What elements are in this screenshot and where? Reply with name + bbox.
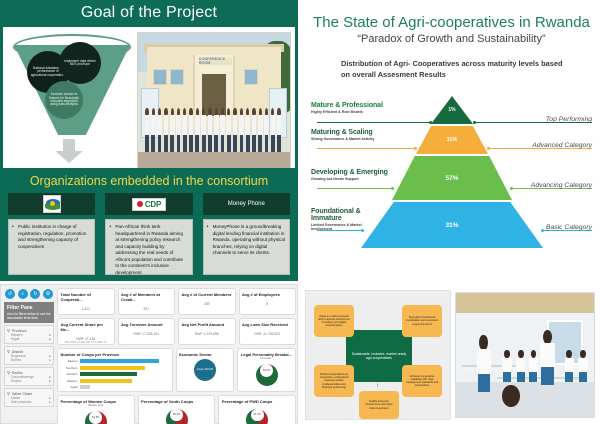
- slide-strategy: Sustainable, inclusive, market-ready agr…: [303, 284, 600, 424]
- funnel-diagram: National database on performance of agri…: [7, 29, 135, 177]
- kpi-card[interactable]: Avg Net Profit Amount RWF 1,329,898: [178, 318, 236, 345]
- rwanda-emblem-icon: [43, 195, 61, 213]
- consortium-description-row: Public institution in charge of registra…: [8, 219, 290, 275]
- women-coops-donut: 52.3%: [85, 411, 107, 424]
- arrow-icon-3: ↗: [356, 375, 361, 382]
- pyramid-category-3: Advancing Category: [531, 182, 592, 189]
- filter-item[interactable]: Musha▸: [7, 379, 51, 383]
- filter-pane-title: Filter Pane: [7, 305, 51, 311]
- photo-person-foreground: [497, 385, 525, 417]
- kpi-value: 289: [182, 302, 233, 306]
- bar-label: Western: [61, 379, 78, 383]
- search-icon: ⚲: [7, 328, 10, 333]
- filter-group-district[interactable]: ⚲District Bugesera▸ Burera▸: [4, 346, 54, 365]
- photo-person-speaker: [539, 330, 557, 385]
- pwd-coops-card[interactable]: Percentage of PWD Coops 41.2%: [218, 395, 296, 424]
- filter-group-province[interactable]: ⚲Province Eastern▸ Kigali▸: [4, 325, 54, 344]
- pwd-coops-donut: 41.2%: [246, 409, 268, 424]
- filter-item[interactable]: Burera▸: [7, 358, 51, 362]
- kpi-value: 5: [242, 302, 293, 306]
- cdp-label: CDP: [145, 200, 161, 209]
- consortium-description-2: Pan-African think tank headquartered in …: [105, 219, 192, 275]
- strategy-node-4: Enhance cooperative scalability with cle…: [402, 365, 442, 397]
- pyramid-level-3-value: 57%: [392, 156, 512, 200]
- slide-dashboard: ↺ ⌕ ↻ ⚙ Filter Pane Use the filters belo…: [0, 284, 298, 424]
- kpi-value: 1,812: [61, 307, 112, 311]
- pyramid-level-4-sub: Limited Governance & Market Involvement: [311, 223, 367, 232]
- bar-label: Southern: [61, 366, 78, 370]
- pyramid-level-3-name: Developing & Emerging: [311, 169, 388, 176]
- goal-title-bar: Goal of the Project: [0, 0, 298, 26]
- search-icon: ⚲: [7, 349, 10, 354]
- donut-value: 41.2%: [251, 409, 264, 422]
- pyramid-level-2-sub: Strong Governance & Market Activity: [311, 137, 374, 141]
- conference-room-sign: CONFERENCE ROOM: [199, 58, 232, 65]
- logo-box-rwanda: [8, 193, 95, 215]
- chart-title: Economic Sector: [179, 352, 231, 357]
- donut-value: 58.4%: [170, 409, 183, 422]
- kpi-value: RWF 1,329,898: [182, 332, 233, 336]
- bar-label: Eastern: [61, 359, 78, 363]
- kpi-title: Avg Loan Size Received: [242, 322, 293, 327]
- kpi-row-1: Total Number of Cooperati... 1,812 Avg #…: [57, 288, 296, 315]
- chart-row-2: Percentage of Women Coops Women coop 52.…: [57, 395, 296, 424]
- legal-personality-card[interactable]: Legal Personality Breakd... Not avail...…: [237, 348, 296, 392]
- connector-line-3: [317, 188, 393, 189]
- pyramid-label-left-4: Foundational & Immature Limited Governan…: [311, 208, 367, 232]
- filter-item[interactable]: Irish potatoes▸: [7, 400, 51, 404]
- pyramid-level-1-name: Mature & Professional: [311, 102, 383, 109]
- pyramid-subtitle: “Paradox of Growth and Sustainability”: [303, 33, 600, 45]
- donut-value: 93.2%: [260, 364, 273, 377]
- strategy-node-2: Strengthen institutional coordination an…: [402, 305, 442, 337]
- page-title: Goal of the Project: [81, 4, 217, 22]
- donut-value: Crops 100.0%: [194, 359, 216, 381]
- pyramid-label-left-2: Maturing & Scaling Strong Governance & M…: [311, 129, 374, 141]
- photo-person-seated: [577, 350, 588, 382]
- photo-window: [153, 69, 167, 86]
- logo-box-cdp: CDP: [105, 193, 192, 215]
- pyramid-level-2-value: 11%: [416, 126, 488, 154]
- photo-person-seated: [528, 350, 539, 382]
- filter-item[interactable]: Kigali▸: [7, 337, 51, 341]
- chart-row-1: Number of Coops per Province Eastern Sou…: [57, 348, 296, 392]
- bar-label: Northern: [61, 372, 78, 376]
- maturity-pyramid-chart: 1% 11% 57% 31% Mature & Professional Hig…: [303, 96, 600, 256]
- funnel-bubble-2: Implement data driven BDS provision: [59, 42, 101, 84]
- search-icon: ⚲: [7, 391, 10, 396]
- kpi-card[interactable]: Avg # of Members at Creati... 257: [118, 288, 176, 315]
- kpi-card[interactable]: Avg Turnover Amount RWF 17,025,301: [118, 318, 176, 345]
- bar-label: Kigali: [61, 385, 78, 389]
- kpi-card[interactable]: Avg Loan Size Received RWF 41,769,823: [239, 318, 297, 345]
- youth-coops-donut: 58.4%: [166, 409, 188, 424]
- kpi-title: Avg Current Share per Me...: [61, 322, 112, 332]
- logo-box-money-phone: Money Phone: [203, 193, 290, 215]
- pyramid-level-4-name: Foundational & Immature: [311, 208, 367, 222]
- economic-sector-donut: Crops 100.0%: [194, 359, 216, 381]
- province-bar-chart: Eastern Southern Northern Western Kigali: [61, 359, 170, 390]
- slide-state-of-agri-cooperatives: The State of Agri-cooperatives in Rwanda…: [303, 0, 600, 281]
- filter-pane: ↺ ⌕ ↻ ⚙ Filter Pane Use the filters belo…: [4, 288, 54, 420]
- search-icon-button[interactable]: ⌕: [18, 289, 28, 299]
- strategy-hub-diagram: Sustainable, inclusive, market-ready agr…: [305, 290, 451, 420]
- kpi-title: Avg # of Employees: [242, 292, 293, 297]
- legal-personality-donut: 93.2%: [256, 364, 278, 386]
- strategy-node-3: Position cooperatives as competitive, pr…: [314, 365, 354, 397]
- pyramid-level-4-value: 31%: [361, 202, 543, 248]
- kpi-card[interactable]: Avg # of Current Members 289: [178, 288, 236, 315]
- photo-person-seated: [564, 350, 575, 382]
- search-icon: ⚲: [7, 370, 10, 375]
- kpi-card[interactable]: Total Number of Cooperati... 1,812: [57, 288, 115, 315]
- pyramid-level-1-sub: Highly Efficient & Role Models: [311, 110, 383, 114]
- refresh-icon-button[interactable]: ↻: [30, 289, 40, 299]
- kpi-title: Total Number of Cooperati...: [61, 292, 112, 302]
- funnel-bubble-3: Increase access to finance for financial…: [45, 81, 83, 119]
- kpi-title: Avg Net Profit Amount: [182, 322, 233, 327]
- pyramid-level-2-name: Maturing & Scaling: [311, 129, 374, 136]
- donut-label-top: Women coop: [61, 404, 132, 407]
- kpi-title: Avg # of Members at Creati...: [121, 292, 172, 302]
- chart-title: Percentage of Youth Coops: [141, 399, 212, 404]
- photo-window: [244, 69, 258, 86]
- filter-pane-note: Use the filters below to see the associa…: [7, 312, 51, 320]
- photo-person-seated: [515, 350, 526, 382]
- filter-group-value-chain[interactable]: ⚲Value Chain Maize▸ Irish potatoes▸: [4, 388, 54, 407]
- arrow-icon-5: ↑: [376, 383, 379, 389]
- photo-person-seated: [502, 350, 513, 382]
- filter-group-label: Province: [12, 329, 27, 333]
- training-session-photo: [455, 292, 595, 418]
- money-phone-label: Money Phone: [228, 201, 265, 207]
- chart-title: Legal Personality Breakd...: [241, 352, 293, 357]
- consortium-description-3: MoneyPhone is a groundbreaking digital l…: [203, 219, 290, 275]
- arrow-icon-2: ↙: [398, 335, 403, 342]
- legal-personality-note: Not avail...: [241, 357, 293, 360]
- arrow-icon-1: ↘: [356, 335, 361, 342]
- pyramid-category-2: Advanced Category: [532, 142, 592, 149]
- kpi-value: 257: [121, 307, 172, 311]
- arrow-icon-4: ↖: [398, 375, 403, 382]
- kpi-title: Avg # of Current Members: [182, 292, 233, 297]
- consortium-description-1: Public institution in charge of registra…: [8, 219, 95, 275]
- strategy-node-5: Enable long-term infrastructure and valu…: [359, 391, 399, 419]
- pyramid-category-1: Top Performing: [546, 116, 592, 123]
- chart-title: Number of Coops per Province: [61, 352, 170, 357]
- filter-group-label: Sector: [12, 371, 23, 375]
- kpi-card[interactable]: Avg Current Share per Me... RWF 47,418 M…: [57, 318, 115, 345]
- goal-body: National database on performance of agri…: [3, 27, 295, 177]
- filter-pane-buttons: ↺ ⌕ ↻ ⚙: [4, 288, 54, 302]
- chart-title: Percentage of PWD Coops: [222, 399, 293, 404]
- connector-line-1: [317, 122, 431, 123]
- filter-group-sector[interactable]: ⚲Sector Gacurabwenge▸ Musha▸: [4, 367, 54, 386]
- kpi-card[interactable]: Avg # of Employees 5: [239, 288, 297, 315]
- economic-sector-card[interactable]: Economic Sector Crops 100.0%: [176, 348, 235, 392]
- connector-line-2: [317, 148, 416, 149]
- dashboard-grid: Total Number of Cooperati... 1,812 Avg #…: [57, 288, 296, 421]
- filter-group-label: District: [12, 350, 24, 354]
- youth-coops-card[interactable]: Percentage of Youth Coops 58.4%: [138, 395, 216, 424]
- photo-ceiling: [456, 293, 594, 313]
- filter-group-label: Value Chain: [12, 392, 32, 396]
- pyramid-label-left-3: Developing & Emerging Growing but Needs …: [311, 169, 388, 181]
- down-arrow-head-icon: [55, 151, 83, 163]
- women-coops-card[interactable]: Percentage of Women Coops Women coop 52.…: [57, 395, 135, 424]
- reset-filters-button[interactable]: ↺: [5, 289, 15, 299]
- kpi-note: Max RWF 12,036,265 | Min RWF 10: [61, 341, 112, 344]
- slide-consortium: Organizations embedded in the consortium…: [0, 168, 298, 281]
- filter-pane-header: Filter Pane Use the filters below to see…: [4, 302, 54, 323]
- photo-window: [170, 69, 184, 86]
- kpi-title: Avg Turnover Amount: [121, 322, 172, 327]
- pyramid-title: The State of Agri-cooperatives in Rwanda: [303, 14, 600, 31]
- photo-person-standing: [475, 335, 492, 392]
- conference-group-photo: CONFERENCE ROOM: [137, 32, 291, 172]
- kpi-value: RWF 17,025,301: [121, 332, 172, 336]
- presentation-canvas: Goal of the Project National database on…: [0, 0, 600, 424]
- pyramid-level-1-value: 1%: [431, 96, 473, 124]
- consortium-title: Organizations embedded in the consortium: [0, 174, 298, 188]
- kpi-value: RWF 41,769,823: [242, 332, 293, 336]
- province-bar-chart-card[interactable]: Number of Coops per Province Eastern Sou…: [57, 348, 173, 392]
- strategy-node-1: Adopt an evidence-based reform agenda an…: [314, 305, 354, 337]
- kpi-row-2: Avg Current Share per Me... RWF 47,418 M…: [57, 318, 296, 345]
- pyramid-level-3-sub: Growing but Needs Support: [311, 177, 388, 181]
- consortium-logo-row: CDP Money Phone: [8, 193, 290, 215]
- pyramid-lead-text: Distribution of Agri- Cooperatives acros…: [341, 58, 571, 80]
- cdp-dot-icon: [137, 201, 143, 207]
- pyramid-label-left-1: Mature & Professional Highly Efficient &…: [311, 102, 383, 114]
- photo-crowd: [144, 108, 284, 152]
- cdp-logo-icon: CDP: [132, 198, 166, 211]
- gear-icon-button[interactable]: ⚙: [43, 289, 53, 299]
- pyramid-category-4: Basic Category: [546, 224, 592, 231]
- donut-value: 52.3%: [89, 411, 102, 424]
